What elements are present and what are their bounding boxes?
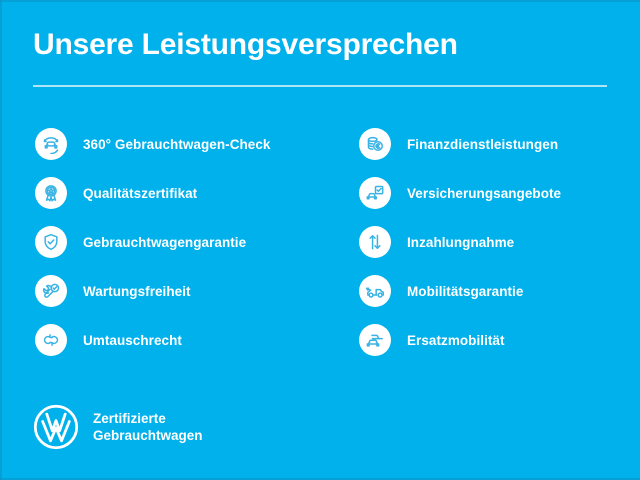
volkswagen-logo: [33, 404, 79, 450]
list-item-label: Qualitätszertifikat: [83, 186, 197, 201]
two-cars-icon: [359, 324, 391, 356]
promise-banner: Unsere Leistungsversprechen 360° Geb: [0, 0, 640, 480]
exchange-arrows-icon: [35, 324, 67, 356]
left-edge-strip: [0, 0, 2, 480]
award-rosette-icon: [35, 177, 67, 209]
coins-euro-icon: [359, 128, 391, 160]
list-item-label: Mobilitätsgarantie: [407, 284, 523, 299]
list-item[interactable]: Gebrauchtwagengarantie: [35, 226, 270, 258]
wrench-check-icon: [35, 275, 67, 307]
car-360-check-icon: [35, 128, 67, 160]
list-item-label: Ersatzmobilität: [407, 333, 505, 348]
brand-lockup-label: Zertifizierte Gebrauchtwagen: [93, 410, 203, 444]
list-item[interactable]: Finanzdienstleistungen: [359, 128, 561, 160]
top-edge-strip: [0, 0, 640, 2]
car-document-icon: [359, 177, 391, 209]
list-item[interactable]: Ersatzmobilität: [359, 324, 561, 356]
list-item-label: Versicherungsangebote: [407, 186, 561, 201]
promise-list-left: 360° Gebrauchtwagen-Check Qualitätszerti…: [35, 128, 270, 356]
shield-check-icon: [35, 226, 67, 258]
title-divider: [33, 85, 607, 87]
list-item[interactable]: Qualitätszertifikat: [35, 177, 270, 209]
list-item[interactable]: 360° Gebrauchtwagen-Check: [35, 128, 270, 160]
list-item[interactable]: Versicherungsangebote: [359, 177, 561, 209]
list-item[interactable]: Wartungsfreiheit: [35, 275, 270, 307]
brand-lockup: Zertifizierte Gebrauchtwagen: [33, 404, 203, 450]
list-item-label: 360° Gebrauchtwagen-Check: [83, 137, 270, 152]
list-item-label: Gebrauchtwagengarantie: [83, 235, 246, 250]
page-title: Unsere Leistungsversprechen: [33, 28, 458, 62]
list-item[interactable]: Mobilitätsgarantie: [359, 275, 561, 307]
arrows-up-down-icon: [359, 226, 391, 258]
list-item-label: Finanzdienstleistungen: [407, 137, 558, 152]
promise-list-right: Finanzdienstleistungen Versicherungsange…: [359, 128, 561, 356]
list-item[interactable]: Umtauschrecht: [35, 324, 270, 356]
tow-truck-icon: [359, 275, 391, 307]
list-item-label: Umtauschrecht: [83, 333, 182, 348]
list-item-label: Inzahlungnahme: [407, 235, 514, 250]
list-item-label: Wartungsfreiheit: [83, 284, 191, 299]
list-item[interactable]: Inzahlungnahme: [359, 226, 561, 258]
